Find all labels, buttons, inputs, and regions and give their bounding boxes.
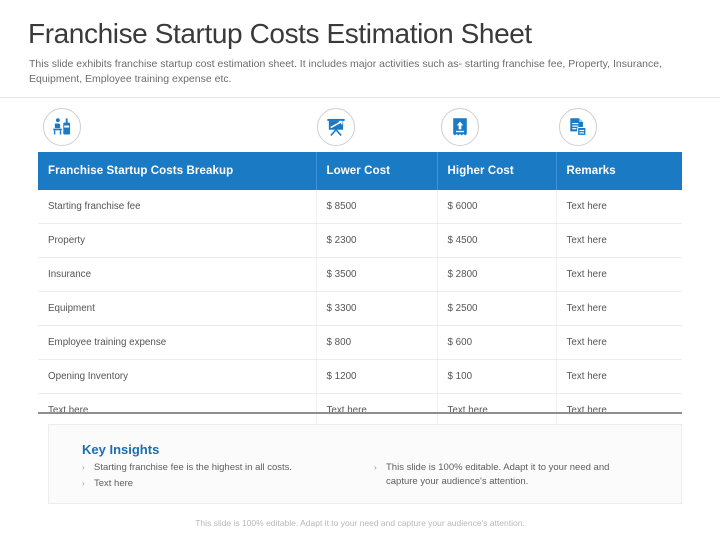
table-row: Insurance $ 3500 $ 2800 Text here	[38, 258, 682, 292]
cell-remarks: Text here	[556, 292, 682, 326]
table-header-row: Franchise Startup Costs Breakup Lower Co…	[38, 152, 682, 190]
cell-higher-cost: $ 2800	[437, 258, 556, 292]
cell-breakup: Opening Inventory	[38, 360, 316, 394]
chevron-right-icon: ›	[82, 461, 85, 475]
presentation-board-icon	[317, 108, 355, 146]
cell-higher-cost: $ 600	[437, 326, 556, 360]
cell-higher-cost: $ 6000	[437, 190, 556, 224]
chevron-right-icon: ›	[374, 461, 377, 475]
page-title: Franchise Startup Costs Estimation Sheet	[28, 18, 532, 50]
page-subtitle: This slide exhibits franchise startup co…	[29, 57, 669, 87]
column-header-higher-cost: Higher Cost	[437, 152, 556, 190]
table-row: Text here Text here Text here Text here	[38, 394, 682, 428]
slide-footer-note: This slide is 100% editable. Adapt it to…	[0, 518, 720, 528]
cell-remarks: Text here	[556, 326, 682, 360]
table-bottom-divider	[38, 412, 682, 414]
key-insights-title: Key Insights	[82, 442, 159, 457]
cell-lower-cost: $ 3300	[316, 292, 437, 326]
person-desk-icon	[43, 108, 81, 146]
cell-lower-cost: $ 8500	[316, 190, 437, 224]
list-item: › Starting franchise fee is the highest …	[80, 461, 370, 475]
cell-remarks: Text here	[556, 258, 682, 292]
cell-breakup: Starting franchise fee	[38, 190, 316, 224]
document-upload-icon	[441, 108, 479, 146]
list-item: › This slide is 100% editable. Adapt it …	[372, 461, 622, 488]
column-header-remarks: Remarks	[556, 152, 682, 190]
list-item-label: This slide is 100% editable. Adapt it to…	[386, 462, 609, 487]
table-row: Starting franchise fee $ 8500 $ 6000 Tex…	[38, 190, 682, 224]
cell-lower-cost: $ 1200	[316, 360, 437, 394]
cell-breakup: Employee training expense	[38, 326, 316, 360]
table-row: Employee training expense $ 800 $ 600 Te…	[38, 326, 682, 360]
cell-lower-cost: $ 3500	[316, 258, 437, 292]
list-item-label: Text here	[94, 478, 133, 489]
key-insights-right-column: › This slide is 100% editable. Adapt it …	[372, 461, 622, 490]
cell-remarks: Text here	[556, 360, 682, 394]
cell-higher-cost: Text here	[437, 394, 556, 428]
list-item: › Text here	[80, 477, 370, 491]
cell-higher-cost: $ 4500	[437, 224, 556, 258]
table-row: Equipment $ 3300 $ 2500 Text here	[38, 292, 682, 326]
cell-higher-cost: $ 100	[437, 360, 556, 394]
list-item-label: Starting franchise fee is the highest in…	[94, 462, 292, 473]
documents-copy-icon	[559, 108, 597, 146]
cell-breakup: Property	[38, 224, 316, 258]
column-header-lower-cost: Lower Cost	[316, 152, 437, 190]
cell-higher-cost: $ 2500	[437, 292, 556, 326]
cell-remarks: Text here	[556, 394, 682, 428]
header-divider	[0, 97, 720, 98]
table-row: Opening Inventory $ 1200 $ 100 Text here	[38, 360, 682, 394]
franchise-costs-table: Franchise Startup Costs Breakup Lower Co…	[38, 152, 682, 427]
cell-breakup: Equipment	[38, 292, 316, 326]
cell-lower-cost: $ 800	[316, 326, 437, 360]
cell-remarks: Text here	[556, 224, 682, 258]
table-row: Property $ 2300 $ 4500 Text here	[38, 224, 682, 258]
cell-lower-cost: Text here	[316, 394, 437, 428]
column-header-breakup: Franchise Startup Costs Breakup	[38, 152, 316, 190]
cell-lower-cost: $ 2300	[316, 224, 437, 258]
cell-breakup: Insurance	[38, 258, 316, 292]
cell-remarks: Text here	[556, 190, 682, 224]
chevron-right-icon: ›	[82, 477, 85, 491]
cell-breakup: Text here	[38, 394, 316, 428]
key-insights-left-column: › Starting franchise fee is the highest …	[80, 461, 370, 492]
